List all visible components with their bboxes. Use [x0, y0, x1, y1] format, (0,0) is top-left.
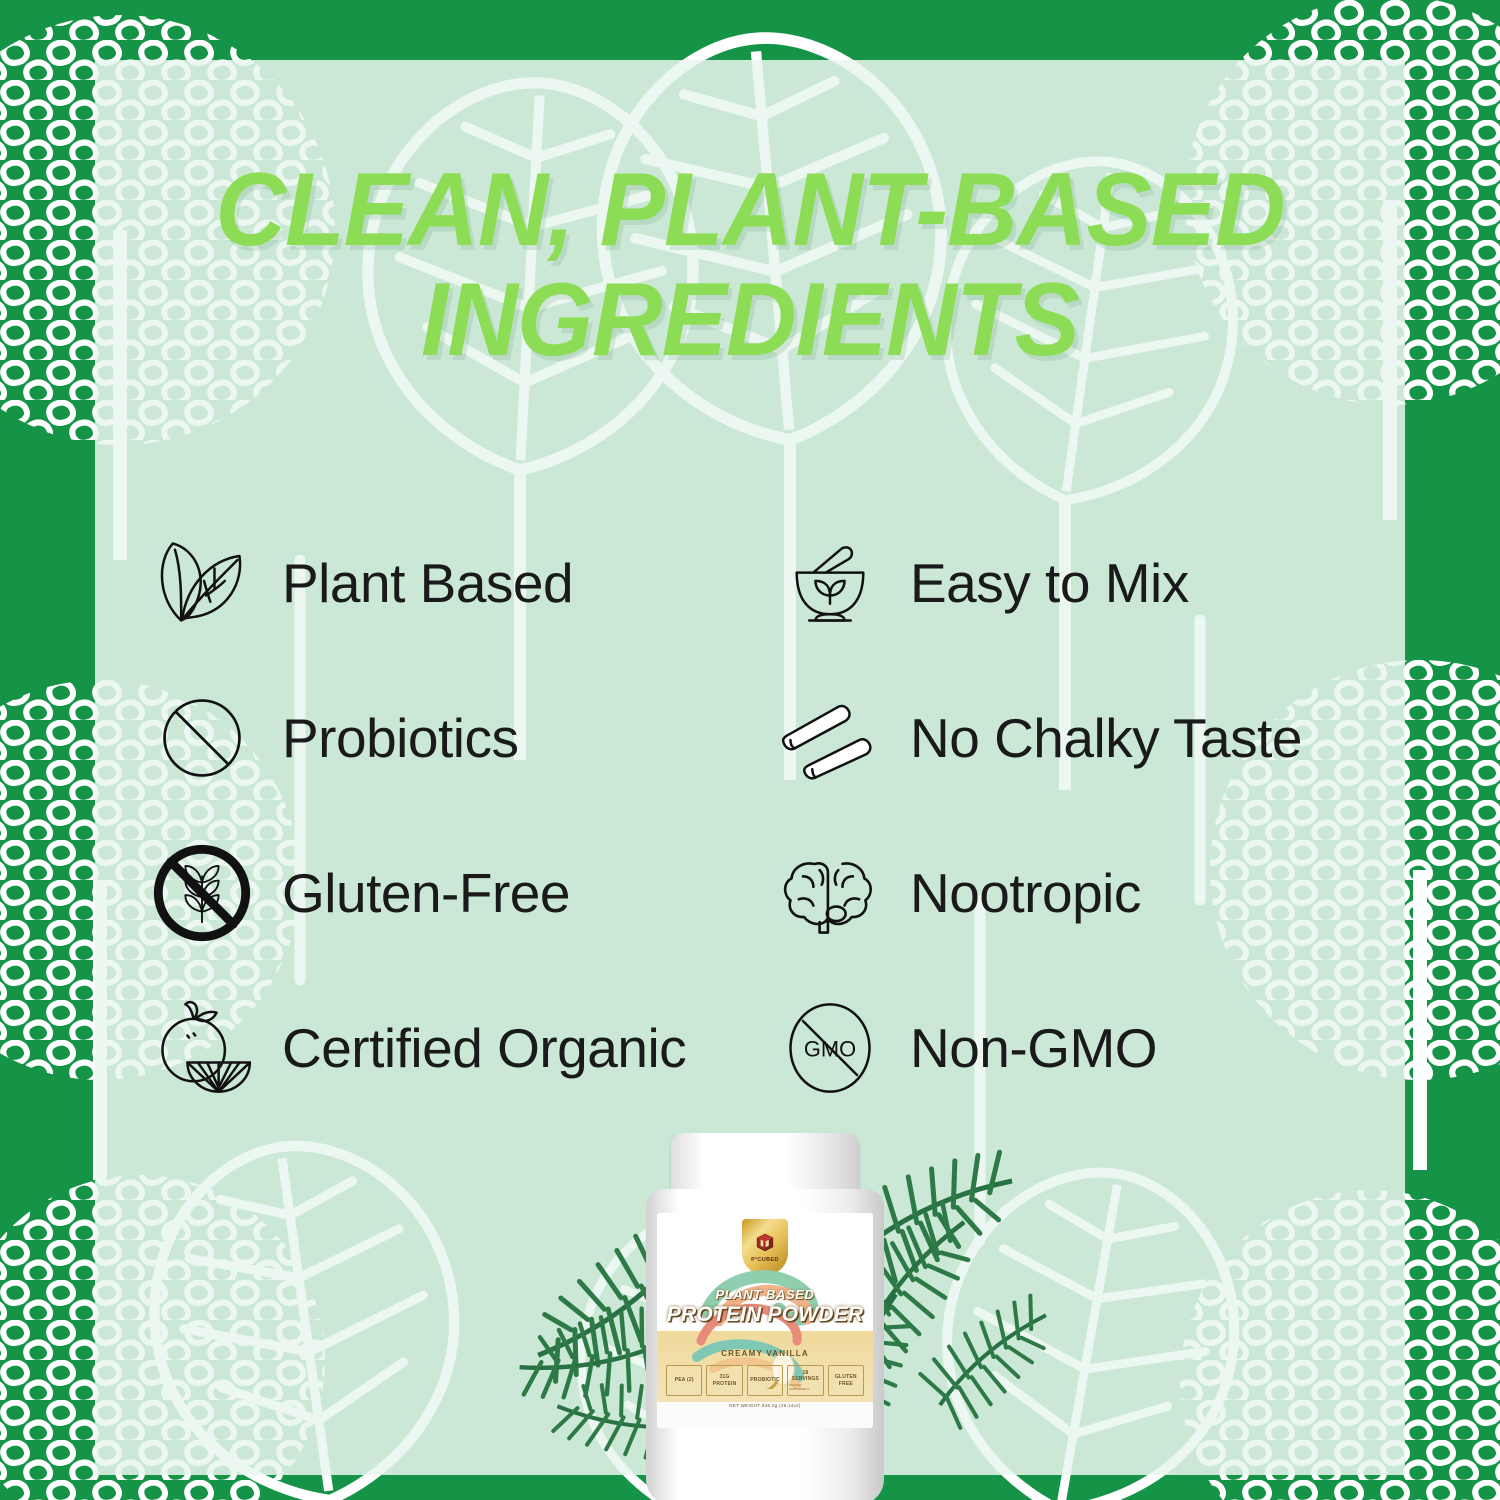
badge-sub: DIETARY SUPPLEMENT [789, 1383, 821, 1391]
product-image: P³CUBED PLANT BASED PROTEIN POWDER CREAM… [470, 1105, 1060, 1500]
capsule-icon [150, 686, 254, 790]
no-wheat-icon [150, 841, 254, 945]
product-label: P³CUBED PLANT BASED PROTEIN POWDER CREAM… [657, 1213, 873, 1428]
badge-line-2: FREE [839, 1381, 853, 1387]
feature-label: Plant Based [282, 551, 573, 615]
label-badges: PEA (2) 31G PROTEIN PROBIOTIC 18 SERVING… [666, 1365, 864, 1396]
feature-label: Gluten-Free [282, 861, 570, 925]
feature-item-plant-based: Plant Based [95, 505, 750, 660]
page-title: CLEAN, PLANT-BASED INGREDIENTS [95, 160, 1405, 372]
label-badge: GLUTEN FREE [828, 1365, 864, 1396]
tub-lid [671, 1133, 859, 1195]
label-badge: 31G PROTEIN [706, 1365, 742, 1396]
feature-label: Easy to Mix [910, 551, 1189, 615]
product-tub: P³CUBED PLANT BASED PROTEIN POWDER CREAM… [646, 1133, 884, 1500]
badge-line-1: PROBIOTIC [750, 1377, 780, 1383]
badge-line-2: PROTEIN [713, 1381, 737, 1387]
feature-label: Certified Organic [282, 1016, 686, 1080]
feature-item-gluten-free: Gluten-Free [95, 815, 750, 970]
orange-fruit-icon [150, 996, 254, 1100]
no-gmo-icon: GMO [778, 996, 882, 1100]
badge-line-2: SERVINGS [792, 1376, 819, 1382]
feature-item-nootropic: Nootropic [750, 815, 1405, 970]
feature-item-non-gmo: GMO Non-GMO [750, 970, 1405, 1125]
feature-label: Probiotics [282, 706, 518, 770]
feature-label: No Chalky Taste [910, 706, 1302, 770]
label-badge: PEA (2) [666, 1365, 702, 1396]
feature-item-certified-organic: Certified Organic [95, 970, 750, 1125]
mortar-pestle-icon [778, 531, 882, 635]
label-badge: 18 SERVINGS DIETARY SUPPLEMENT [787, 1365, 823, 1396]
headline-line-1: CLEAN, PLANT-BASED [134, 160, 1365, 262]
brain-icon [778, 841, 882, 945]
headline-line-2: INGREDIENTS [134, 270, 1365, 372]
label-title-small: PLANT BASED [657, 1287, 873, 1302]
feature-item-no-chalky-taste: No Chalky Taste [750, 660, 1405, 815]
label-badge: PROBIOTIC [747, 1365, 783, 1396]
feature-list: Plant Based Easy to Mix Probiotics [95, 505, 1405, 1125]
badge-line-1: PEA (2) [675, 1377, 694, 1383]
feature-item-probiotics: Probiotics [95, 660, 750, 815]
label-flavor: CREAMY VANILLA [657, 1349, 873, 1358]
feature-label: Non-GMO [910, 1016, 1157, 1080]
label-title-large: PROTEIN POWDER [657, 1303, 873, 1327]
chalk-sticks-icon [778, 686, 882, 790]
label-titles: PLANT BASED PROTEIN POWDER [657, 1287, 873, 1327]
leaf-icon [150, 531, 254, 635]
label-net-weight: NET WEIGHT 826.2g (29.14oz) [657, 1403, 873, 1408]
feature-item-easy-to-mix: Easy to Mix [750, 505, 1405, 660]
feature-label: Nootropic [910, 861, 1141, 925]
gmo-icon-text: GMO [804, 1036, 856, 1061]
